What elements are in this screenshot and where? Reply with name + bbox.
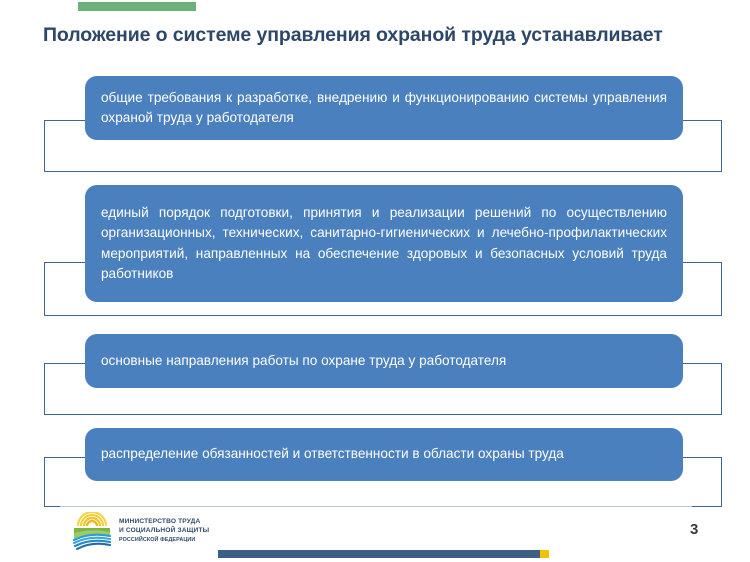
statement-text-2: единый порядок подготовки, принятия и ре… (85, 203, 683, 285)
logo-line-3: РОССИЙСКОЙ ФЕДЕРАЦИИ (119, 536, 209, 545)
statement-chip-2[interactable]: единый порядок подготовки, принятия и ре… (85, 185, 683, 302)
process-diagram: общие требования к разработке, внедрению… (0, 0, 750, 562)
logo-line-1: МИНИСТЕРСТВО ТРУДА (119, 517, 209, 526)
ministry-logo: МИНИСТЕРСТВО ТРУДА И СОЦИАЛЬНОЙ ЗАЩИТЫ Р… (72, 512, 209, 550)
statement-text-1: общие требования к разработке, внедрению… (85, 88, 683, 129)
statement-text-4: распределение обязанностей и ответственн… (85, 444, 683, 465)
statement-text-3: основные направления работы по охране тр… (85, 351, 683, 372)
footer-divider (60, 506, 692, 507)
statement-chip-4[interactable]: распределение обязанностей и ответственн… (85, 428, 683, 481)
footer-bar-accent (540, 550, 549, 558)
ministry-emblem-icon (72, 512, 112, 550)
footer-bar (218, 550, 540, 558)
statement-chip-1[interactable]: общие требования к разработке, внедрению… (85, 76, 683, 140)
page-number: 3 (690, 521, 698, 538)
ministry-logo-text: МИНИСТЕРСТВО ТРУДА И СОЦИАЛЬНОЙ ЗАЩИТЫ Р… (119, 517, 209, 545)
statement-chip-3[interactable]: основные направления работы по охране тр… (85, 334, 683, 388)
slide-canvas: Положение о системе управления охраной т… (0, 0, 750, 562)
logo-line-2: И СОЦИАЛЬНОЙ ЗАЩИТЫ (119, 526, 209, 535)
